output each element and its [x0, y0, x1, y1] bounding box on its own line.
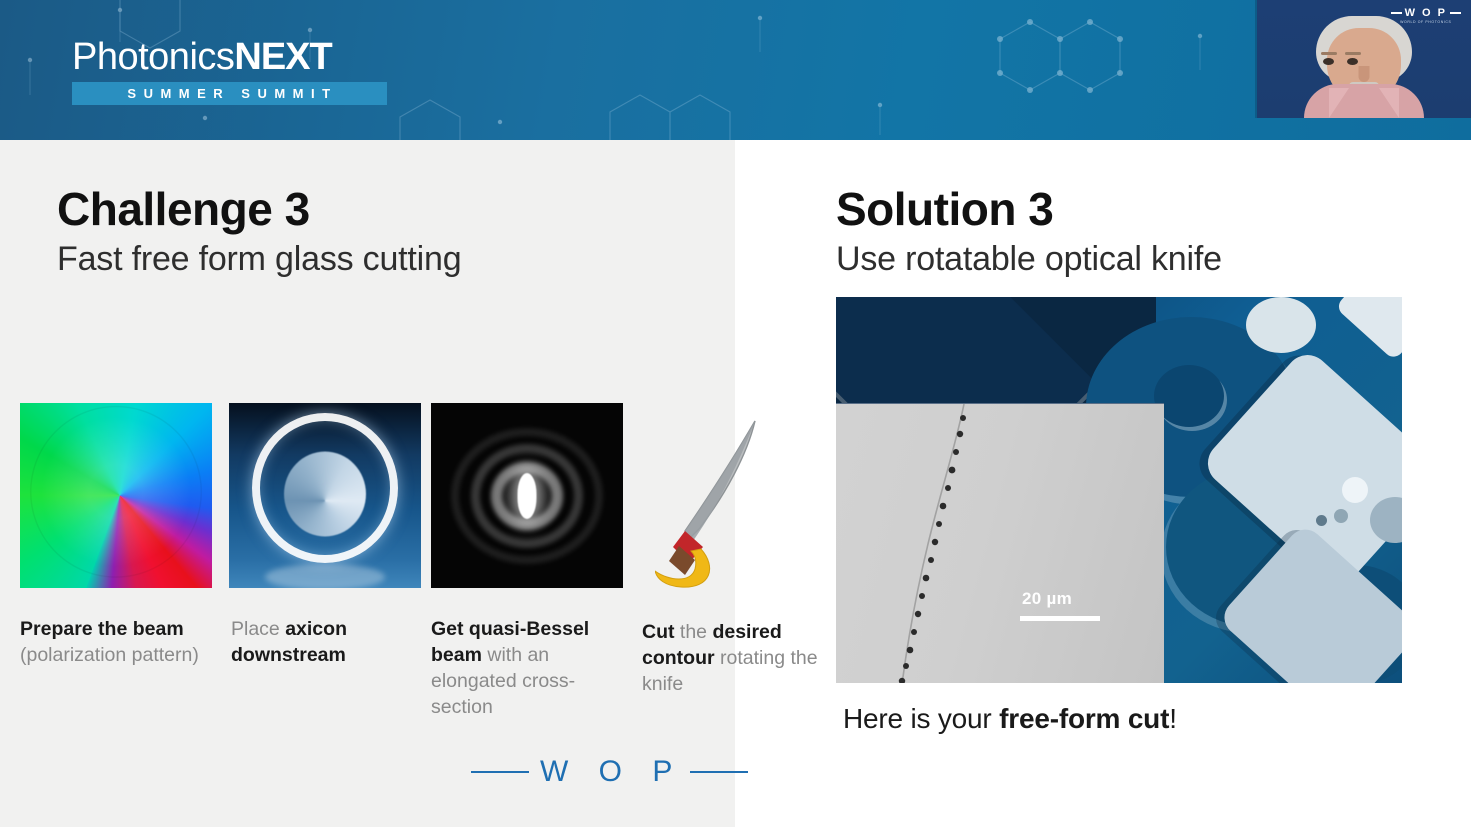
webcam-speaker-collar-left — [1329, 88, 1349, 118]
bottom-caption-light-1: Here is your — [843, 703, 999, 734]
photo-hole-2 — [1334, 509, 1348, 523]
bottom-caption-light-2: ! — [1169, 703, 1177, 734]
step-1-caption-rest: (polarization pattern) — [20, 644, 199, 666]
solution-title: Solution 3 — [836, 182, 1053, 236]
step-4-caption-light-1: the — [675, 621, 713, 643]
photo-hole-1 — [1342, 477, 1368, 503]
logo-summer-summit-banner: SUMMER SUMMIT — [72, 82, 387, 105]
bessel-core — [518, 473, 537, 519]
webcam-wop-logo: W O P WORLD OF PHOTONICS — [1391, 7, 1461, 24]
step-2-caption: Place axicon downstream — [231, 616, 421, 668]
axicon-cone — [284, 451, 366, 536]
logo-word-photonics: Photonics — [72, 36, 234, 78]
webcam-speaker-collar-right — [1379, 88, 1399, 118]
webcam-speaker-eye-right — [1347, 58, 1358, 65]
webcam-speaker-brow-right — [1345, 52, 1361, 55]
scale-bar-label: 20 µm — [1022, 589, 1072, 609]
axicon-lens-image — [229, 403, 421, 588]
challenge-title: Challenge 3 — [57, 182, 310, 236]
knife-icon — [655, 403, 765, 593]
event-header-banner: PhotonicsNEXT SUMMER SUMMIT W O P — [0, 0, 1471, 140]
photo-glass-disc-2 — [1154, 365, 1224, 427]
photo-glass-disc-4 — [1246, 297, 1316, 353]
filament-trace — [836, 404, 1164, 683]
axicon-reflection — [265, 564, 385, 588]
slide-viewer: PhotonicsNEXT SUMMER SUMMIT W O P — [0, 0, 1471, 827]
step-3-caption: Get quasi-Bessel beam with an elongated … — [431, 616, 621, 720]
webcam-speaker-brow-left — [1321, 52, 1337, 55]
webcam-speaker-eye-left — [1323, 58, 1334, 65]
webcam-speaker-shirt — [1304, 84, 1424, 118]
photo-hole-3 — [1316, 515, 1327, 526]
photonics-next-logo: PhotonicsNEXT SUMMER SUMMIT — [72, 36, 392, 105]
wop-logo-text: W O P — [1405, 7, 1447, 19]
filament-micrograph-inset: 20 µm — [836, 403, 1164, 683]
wop-footer-line-left — [471, 771, 529, 773]
logo-word-next: NEXT — [234, 36, 331, 78]
bessel-beam-render — [431, 403, 623, 588]
step-2-caption-light: Place — [231, 618, 285, 640]
speaker-webcam-tile[interactable]: W O P WORLD OF PHOTONICS — [1255, 0, 1471, 118]
polarization-gradient — [20, 403, 212, 588]
step-1-caption-bold: Prepare the beam — [20, 618, 184, 640]
step-1-caption: Prepare the beam (polarization pattern) — [20, 616, 216, 668]
polarization-pattern-image — [20, 403, 212, 588]
solution-bottom-caption: Here is your free-form cut! — [843, 703, 1177, 735]
solution-subtitle: Use rotatable optical knife — [836, 240, 1222, 279]
wop-line-left — [1391, 12, 1402, 14]
quasi-bessel-beam-image — [431, 403, 623, 588]
wop-logo-subtitle: WORLD OF PHOTONICS — [1391, 20, 1461, 24]
photo-glass-square-2 — [1335, 297, 1402, 361]
free-form-cut-glass-photo: 20 µm — [836, 297, 1402, 683]
step-4-caption-bold-1: Cut — [642, 621, 675, 643]
step-4-caption: Cut the desired contour rotating the kni… — [642, 619, 820, 697]
knife-blade-shade — [685, 421, 755, 541]
axicon-render — [229, 403, 421, 588]
challenge-subtitle: Fast free form glass cutting — [57, 240, 461, 279]
wop-line-right — [1450, 12, 1461, 14]
wop-footer-logo: W O P — [471, 757, 748, 787]
wop-footer-line-right — [690, 771, 748, 773]
wop-footer-text: W O P — [536, 757, 683, 787]
webcam-speaker-nose — [1359, 66, 1370, 82]
bottom-caption-bold: free-form cut — [999, 703, 1169, 734]
logo-wordmark: PhotonicsNEXT — [72, 36, 392, 78]
scale-bar-line — [1020, 616, 1100, 621]
